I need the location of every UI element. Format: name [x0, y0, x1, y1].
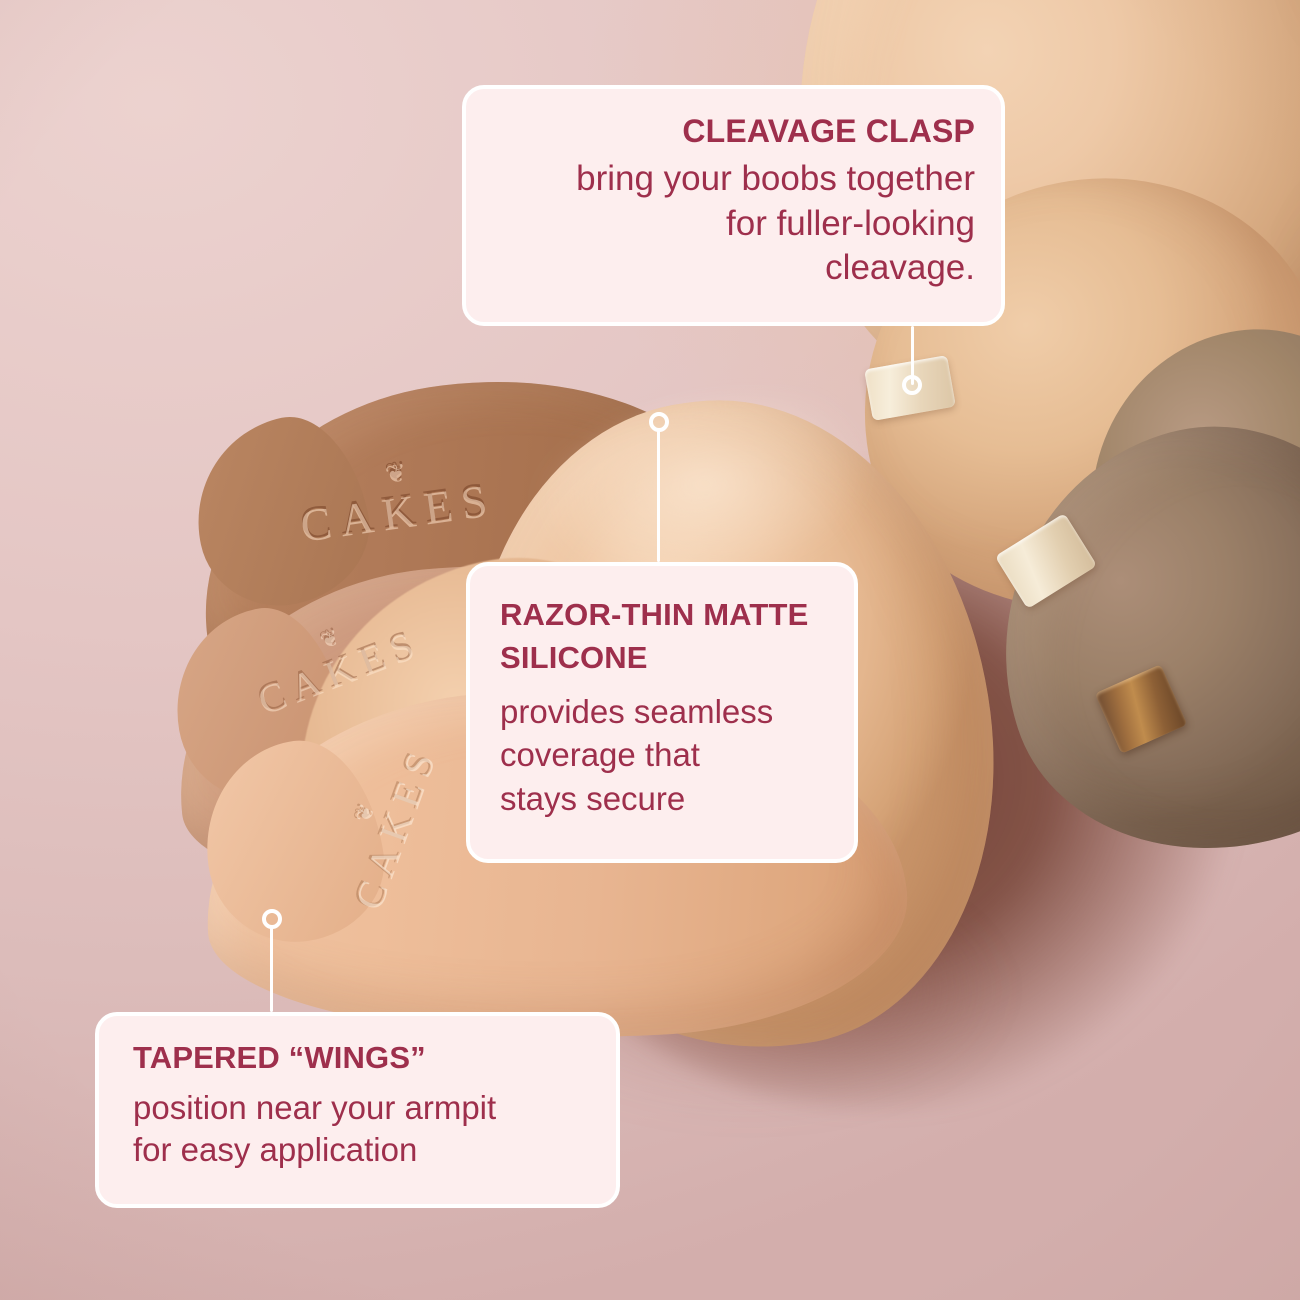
- callout-body-line: provides seamless: [500, 690, 824, 734]
- callout-body-line: coverage that: [500, 733, 824, 777]
- callout-body: provides seamless coverage that stays se…: [500, 690, 824, 822]
- leader-line-tapered-wings: [270, 927, 273, 1012]
- callout-body-line: position near your armpit: [133, 1087, 582, 1130]
- callout-cleavage-clasp: CLEAVAGE CLASP bring your boobs together…: [462, 85, 1005, 326]
- leader-dot-cleavage-clasp: [902, 375, 922, 395]
- infographic-canvas: ❦ CAKES ❦ CAKES ❦ CAKES CLEAVAGE CLASP b…: [0, 0, 1300, 1300]
- callout-body-line: for easy application: [133, 1129, 582, 1172]
- callout-body-line: bring your boobs together: [492, 157, 975, 202]
- leader-dot-matte-silicone: [649, 412, 669, 432]
- leader-line-matte-silicone: [657, 430, 660, 562]
- callout-heading: CLEAVAGE CLASP: [492, 113, 975, 151]
- callout-heading-line: RAZOR-THIN: [500, 597, 694, 632]
- callout-heading: RAZOR-THIN MATTE SILICONE: [500, 594, 824, 680]
- callout-body: position near your armpit for easy appli…: [133, 1087, 582, 1173]
- callout-body: bring your boobs together for fuller-loo…: [492, 157, 975, 291]
- callout-body-line: stays secure: [500, 777, 824, 821]
- callout-razor-thin-matte-silicone: RAZOR-THIN MATTE SILICONE provides seaml…: [466, 562, 858, 863]
- callout-tapered-wings: TAPERED “WINGS” position near your armpi…: [95, 1012, 620, 1208]
- leader-dot-tapered-wings: [262, 909, 282, 929]
- callout-body-line: for fuller-looking: [492, 202, 975, 247]
- callout-heading: TAPERED “WINGS”: [133, 1040, 582, 1077]
- callout-body-line: cleavage.: [492, 246, 975, 291]
